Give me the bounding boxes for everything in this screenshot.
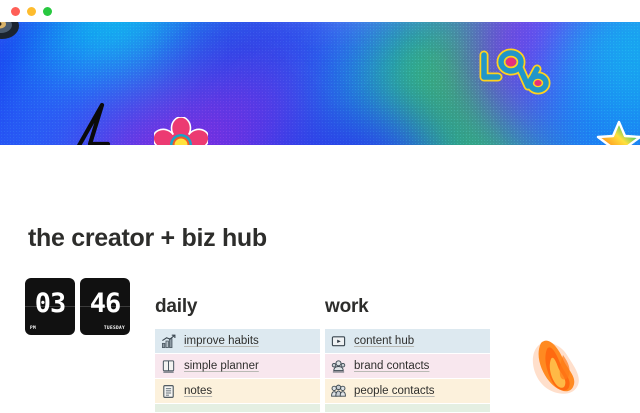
- column-daily: daily improve habits simple planner: [155, 296, 320, 413]
- list-item-label: people contacts: [354, 385, 435, 397]
- list-item[interactable]: people contacts: [325, 379, 490, 403]
- clock-minutes-value: 46: [80, 288, 130, 319]
- maximize-button[interactable]: [43, 7, 52, 16]
- list-item-label: improve habits: [184, 335, 259, 347]
- clock-minutes-card: 46 TUESDAY: [80, 278, 130, 335]
- love-word-sticker: [474, 46, 552, 98]
- clock-hours-card: 03 PM: [25, 278, 75, 335]
- list-item-label: notes: [184, 385, 212, 397]
- list-item[interactable]: simple planner: [155, 354, 320, 378]
- column-work: work content hub brand contacts: [325, 296, 490, 413]
- minimize-button[interactable]: [27, 7, 36, 16]
- flame-graphic: [515, 325, 610, 405]
- list-item[interactable]: brand contacts: [325, 354, 490, 378]
- page-content: the creator + biz hub 03 PM 46 TUESDAY d…: [0, 145, 640, 400]
- flip-clock-widget: 03 PM 46 TUESDAY: [25, 278, 130, 335]
- clock-meridiem-label: PM: [30, 326, 36, 331]
- list-item[interactable]: content hub: [325, 329, 490, 353]
- window-titlebar: [0, 0, 640, 22]
- people-icon: [331, 384, 346, 399]
- document-icon: [161, 384, 176, 399]
- column-title-work: work: [325, 296, 490, 318]
- list-item[interactable]: improve habits: [155, 329, 320, 353]
- list-item[interactable]: [155, 404, 320, 412]
- page-title: the creator + biz hub: [28, 224, 267, 253]
- clock-hours-value: 03: [25, 288, 75, 319]
- list-item-label: brand contacts: [354, 360, 429, 372]
- list-item-label: content hub: [354, 335, 414, 347]
- list-item[interactable]: [325, 404, 490, 412]
- page-cover-banner[interactable]: [0, 22, 640, 145]
- video-player-icon: [331, 334, 346, 349]
- book-icon: [161, 359, 176, 374]
- group-icon: [331, 359, 346, 374]
- close-button[interactable]: [11, 7, 20, 16]
- column-title-daily: daily: [155, 296, 320, 318]
- list-item-label: simple planner: [184, 360, 259, 372]
- chart-bar-icon: [161, 334, 176, 349]
- list-item[interactable]: notes: [155, 379, 320, 403]
- clock-weekday-label: TUESDAY: [104, 326, 125, 331]
